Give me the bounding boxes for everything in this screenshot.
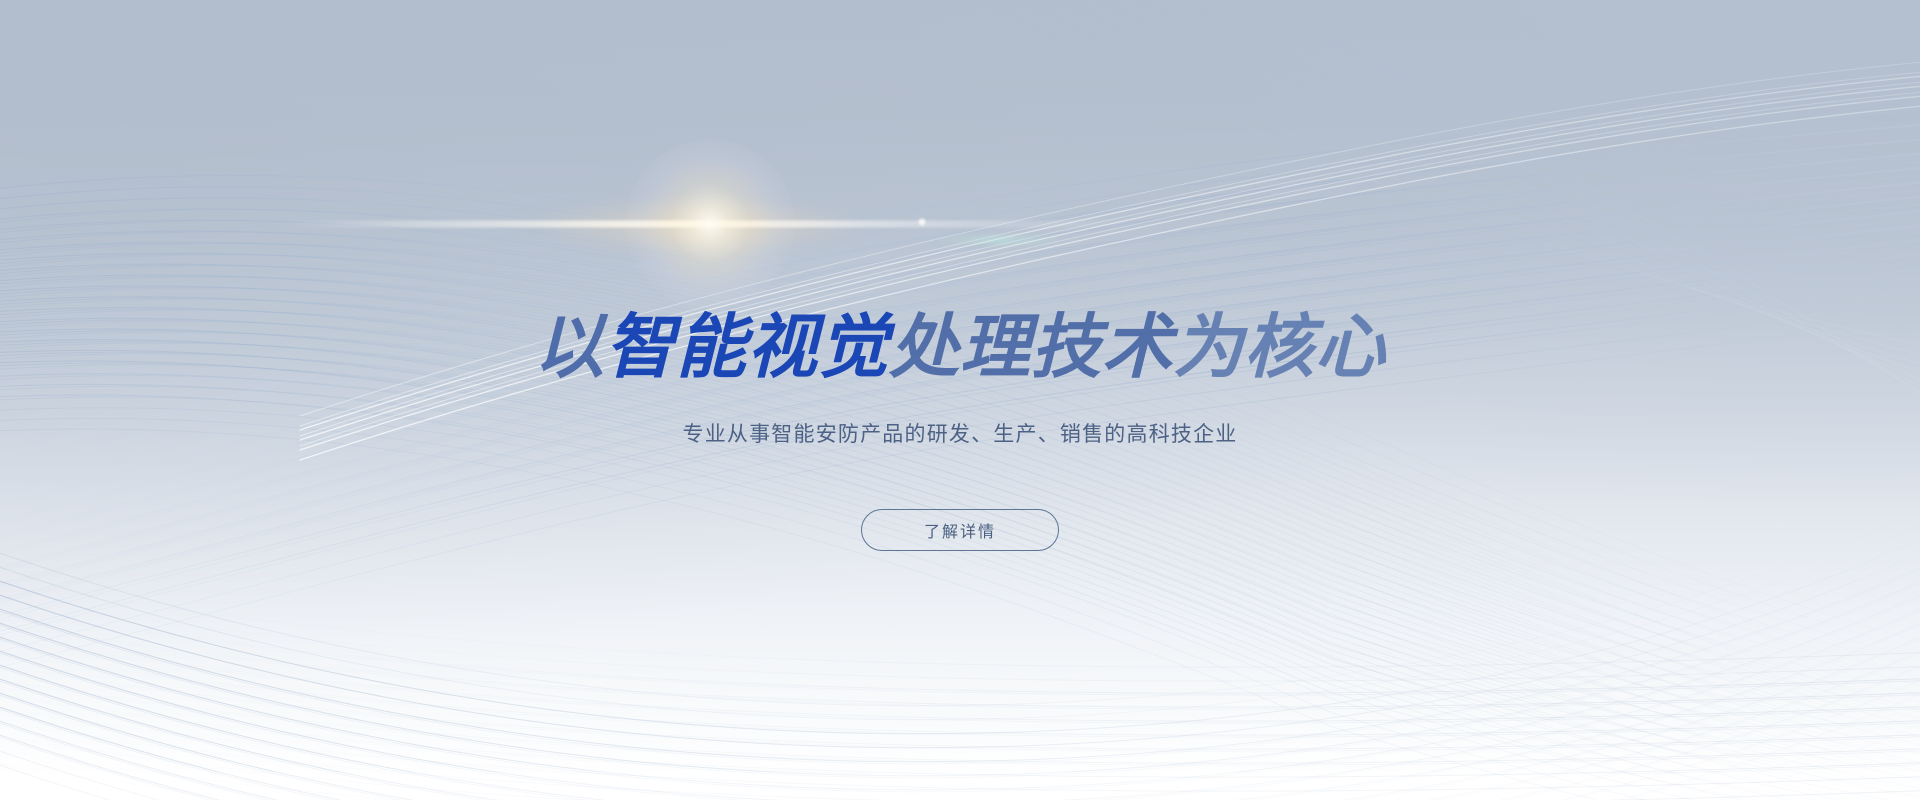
flowing-wave-lines-graphic — [0, 0, 1920, 800]
hero-cta-container: 了解详情 — [0, 509, 1920, 551]
hero-banner: 以智能视觉处理技术为核心 专业从事智能安防产品的研发、生产、销售的高科技企业 了… — [0, 0, 1920, 800]
learn-more-button[interactable]: 了解详情 — [861, 509, 1059, 551]
